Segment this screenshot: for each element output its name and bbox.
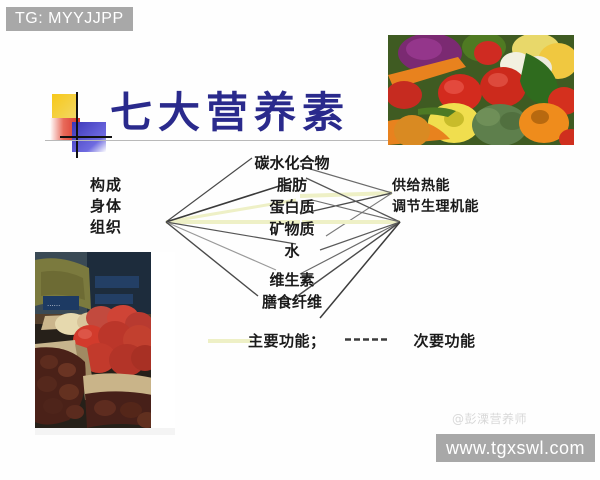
left-line-2: 身体 (90, 197, 122, 215)
watermark-site-url: www.tgxswl.com (436, 434, 595, 462)
assorted-vegetables-photo (388, 35, 574, 145)
title-underline (45, 140, 400, 141)
right-line-2: 调节生理机能 (392, 199, 479, 215)
decorative-squares-logo (50, 92, 114, 158)
fruit-market-stall-photo: ...... (35, 252, 175, 435)
page-title: 七大营养素 (110, 88, 350, 138)
nutrient-item-water: 水 (232, 240, 352, 262)
legend-text: 主要功能；次要功能 (248, 330, 476, 351)
svg-text:......: ...... (47, 300, 60, 308)
nutrient-item-dietary-fiber: 膳食纤维 (232, 291, 352, 313)
legend-secondary-label: 次要功能 (414, 332, 476, 350)
right-line-1: 供给热能 (392, 178, 450, 194)
left-line-3: 组织 (90, 218, 122, 236)
legend-primary-label: 主要功能 (248, 332, 310, 350)
nutrient-item-fat: 脂肪 (232, 174, 352, 196)
legend-separator: ； (310, 332, 326, 350)
watermark-top-left: TG: MYYJJPP (6, 7, 133, 31)
nutrient-item-mineral: 矿物质 (232, 218, 352, 240)
nutrient-item-carbohydrate: 碳水化合物 (232, 152, 352, 174)
right-function-group: 供给热能 调节生理机能 (392, 176, 479, 218)
legend-primary-line (208, 339, 252, 343)
nutrient-item-vitamin: 维生素 (232, 269, 352, 291)
nutrient-list: 碳水化合物 脂肪 蛋白质 矿物质 水 维生素 膳食纤维 (232, 152, 352, 313)
left-function-group: 构成 身体 组织 (90, 175, 122, 238)
watermark-author: @彭溧营养师 (452, 410, 527, 427)
nutrient-item-protein: 蛋白质 (232, 196, 352, 218)
left-line-1: 构成 (90, 176, 122, 194)
